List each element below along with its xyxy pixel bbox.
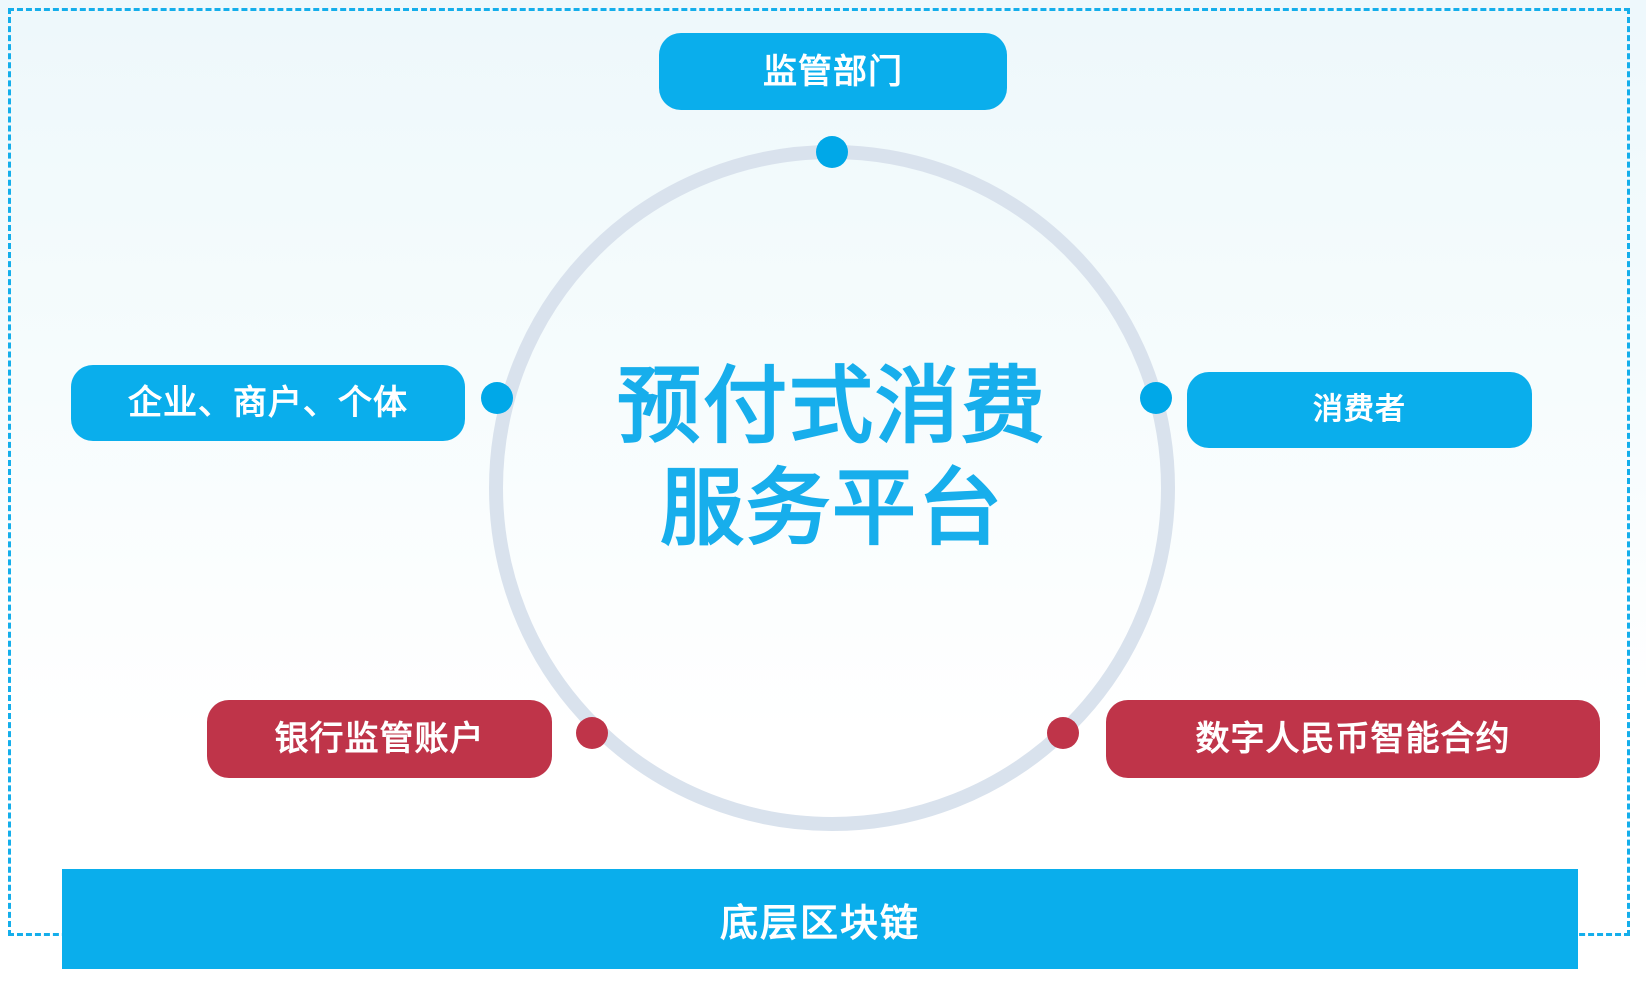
node-bank-account-label: 银行监管账户 — [275, 722, 485, 756]
node-regulator[interactable]: 监管部门 — [659, 33, 1007, 110]
foundation-bar-label: 底层区块链 — [720, 892, 920, 947]
node-bank-account[interactable]: 银行监管账户 — [207, 700, 552, 778]
node-smart-contract[interactable]: 数字人民币智能合约 — [1106, 700, 1600, 778]
node-regulator-label: 监管部门 — [763, 55, 903, 89]
foundation-bar[interactable]: 底层区块链 — [62, 869, 1578, 969]
diagram-canvas: 监管部门 企业、商户、个体 消费者 银行监管账户 数字人民币智能合约 预付式消费… — [0, 0, 1646, 1000]
node-enterprise-label: 企业、商户、个体 — [128, 386, 408, 420]
center-title: 预付式消费 服务平台 — [552, 355, 1112, 560]
ring-dot-contract — [1047, 717, 1079, 749]
node-consumer[interactable]: 消费者 — [1187, 372, 1532, 448]
node-consumer-label: 消费者 — [1313, 395, 1406, 425]
center-title-line-2: 服务平台 — [552, 457, 1112, 559]
ring-dot-consumer — [1140, 382, 1172, 414]
ring-dot-bank — [576, 717, 608, 749]
ring-dot-regulator — [816, 136, 848, 168]
center-title-line-1: 预付式消费 — [552, 355, 1112, 457]
node-enterprise[interactable]: 企业、商户、个体 — [71, 365, 465, 441]
node-smart-contract-label: 数字人民币智能合约 — [1196, 722, 1511, 756]
ring-dot-enterprise — [481, 382, 513, 414]
